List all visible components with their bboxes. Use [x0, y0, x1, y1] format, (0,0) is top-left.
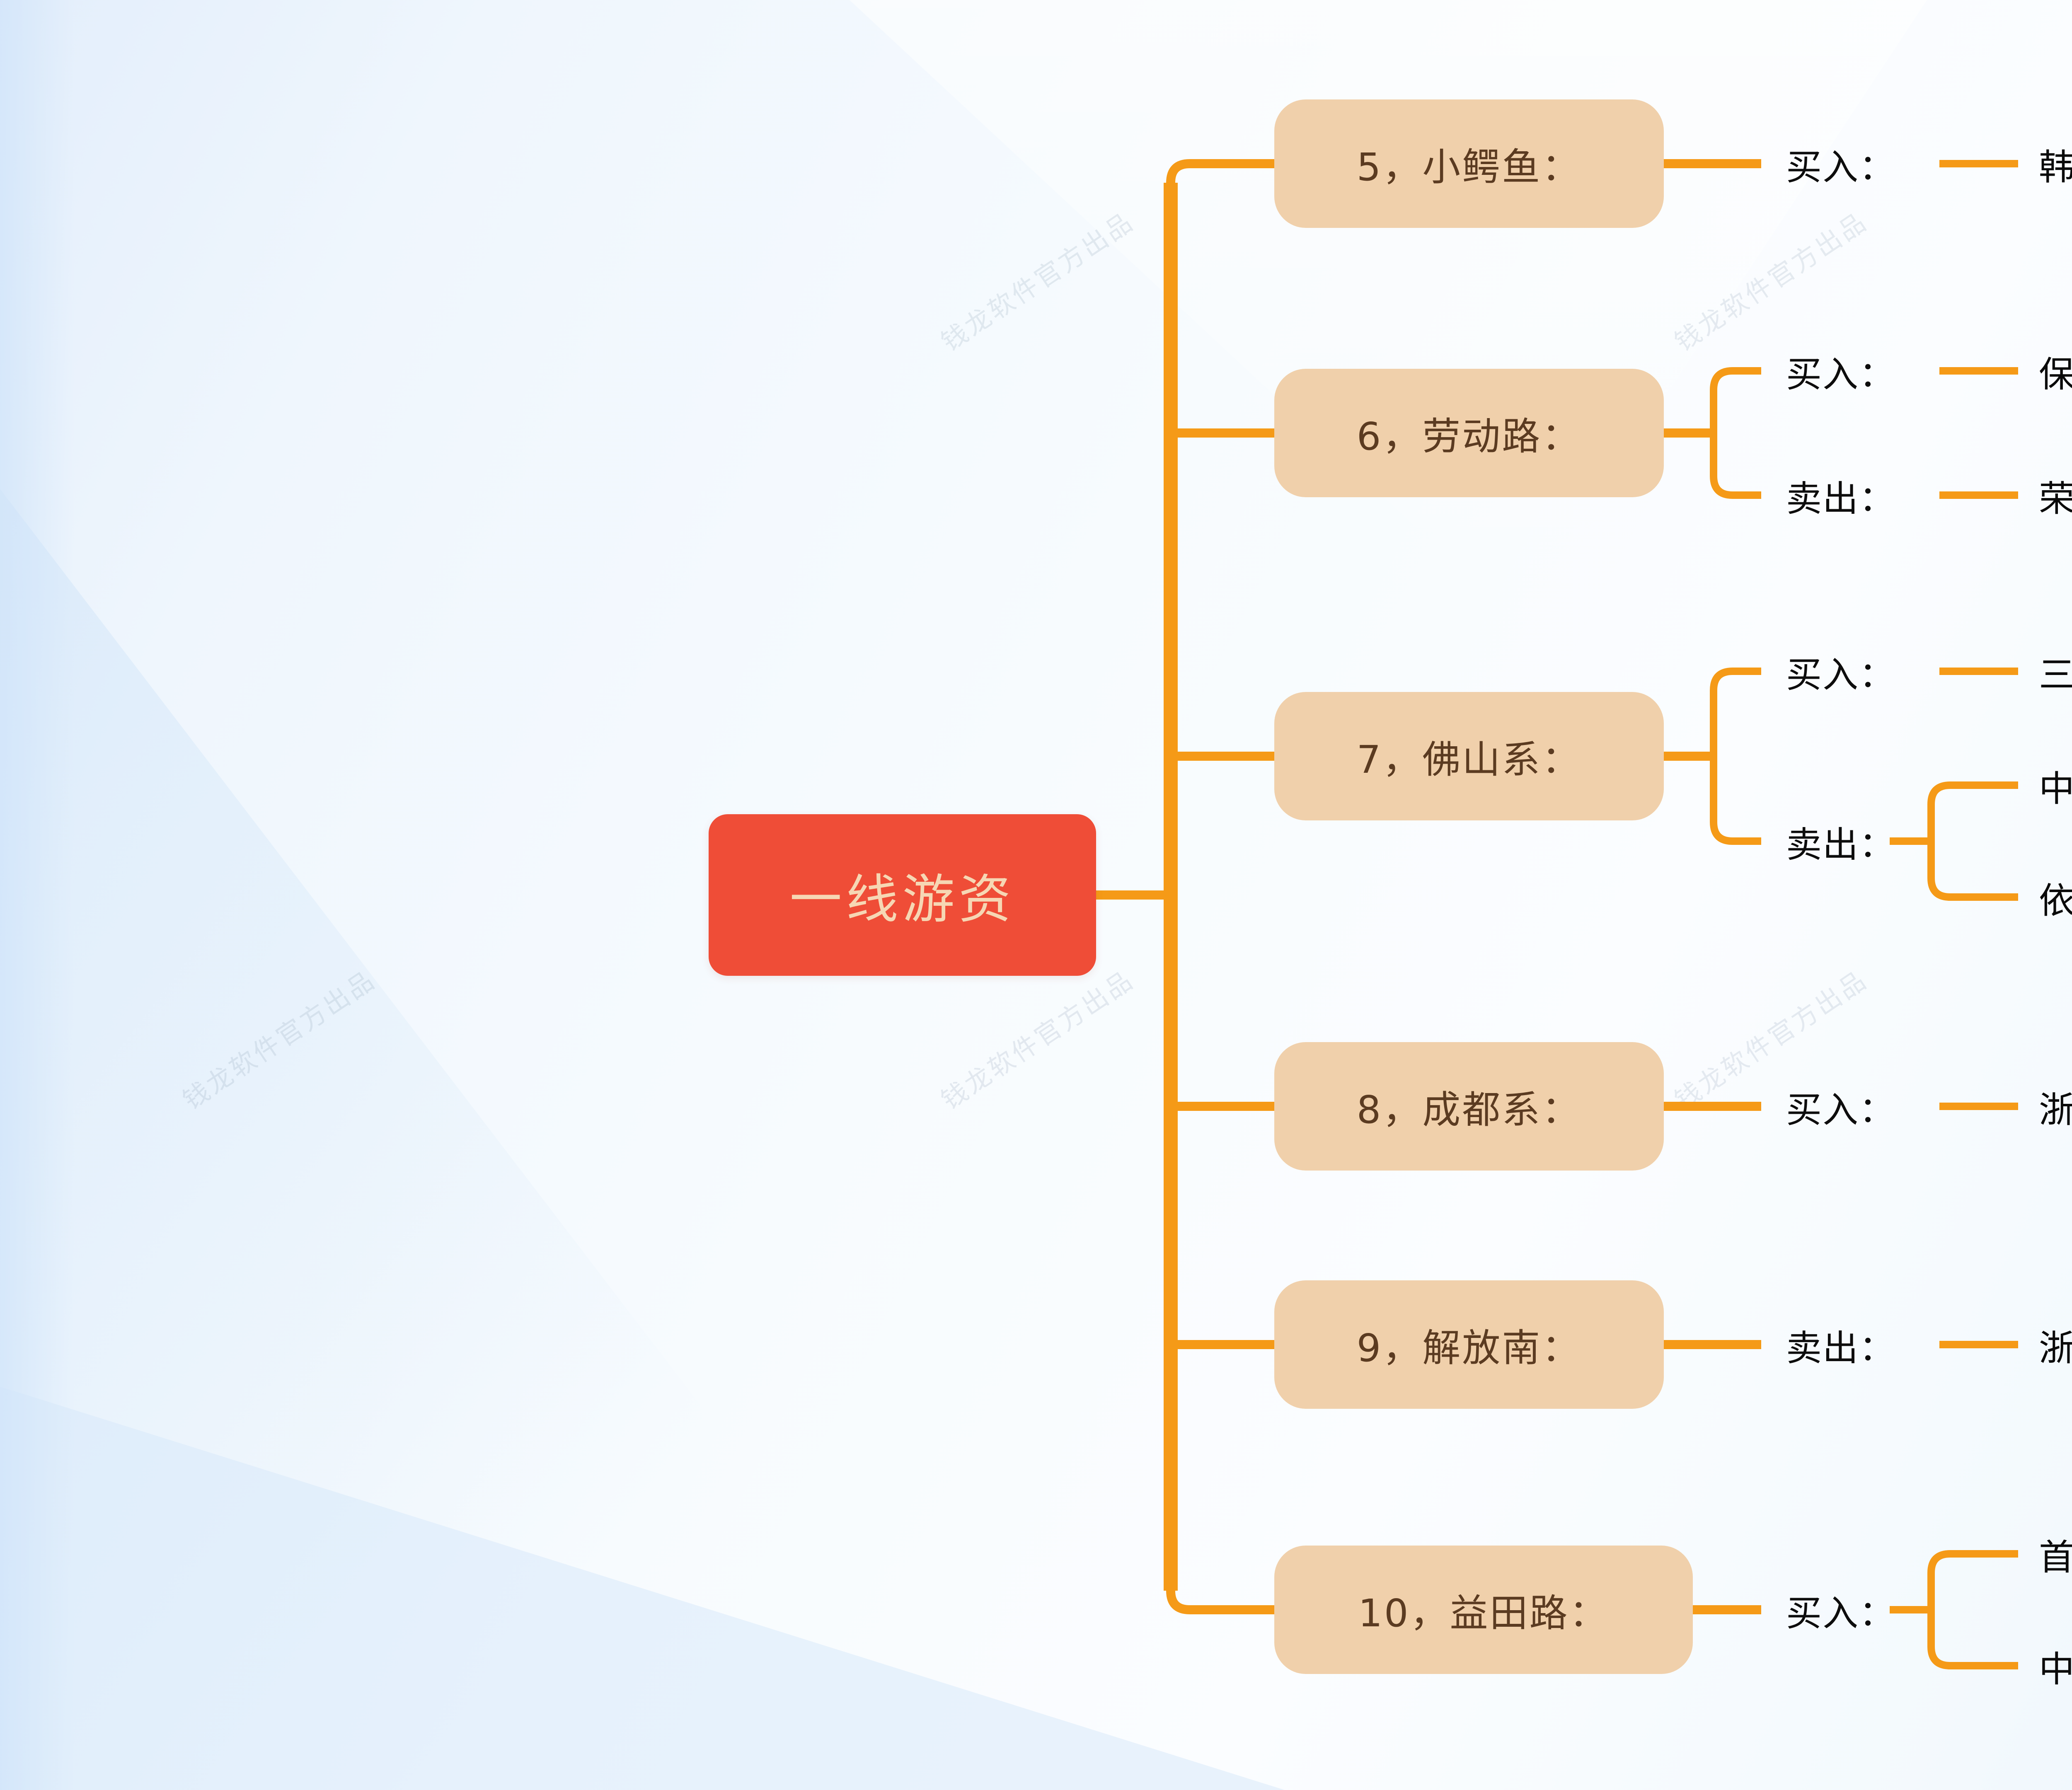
- leaf-1-1-1[interactable]: 韩建河山：5926万: [2039, 141, 2072, 186]
- leaf-6-1-2-text: 中嘉博创3日：1302万: [2039, 1640, 2072, 1692]
- group-label-6-1[interactable]: 买入：: [1786, 1587, 1895, 1633]
- branch-node-label: 5，小鳄鱼：: [1357, 136, 1582, 191]
- branch-node-label: 9，解放南：: [1357, 1317, 1582, 1372]
- branch-node-1[interactable]: 5，小鳄鱼：: [1274, 99, 1664, 228]
- leaf-6-1-2[interactable]: 中嘉博创3日：1302万: [2039, 1643, 2072, 1688]
- leaf-5-1-1[interactable]: 浙大网新：1.68亿: [2039, 1322, 2072, 1367]
- root-node[interactable]: 一线游资: [709, 814, 1096, 976]
- group-label-1-1[interactable]: 买入：: [1786, 141, 1895, 186]
- branch-node-6[interactable]: 10，益田路：: [1274, 1546, 1693, 1674]
- leaf-2-1-1[interactable]: 保利联合：3274万: [2039, 348, 2072, 394]
- group-label-5-1-text: 卖出：: [1786, 1319, 1895, 1371]
- branch-node-4[interactable]: 8，成都系：: [1274, 1042, 1664, 1171]
- leaf-3-1-1[interactable]: 三七互娱：2150万: [2039, 648, 2072, 694]
- group-label-2-1-text: 买入：: [1786, 345, 1895, 397]
- branch-node-label: 8，成都系：: [1357, 1079, 1582, 1134]
- group-label-2-2[interactable]: 卖出：: [1786, 472, 1895, 518]
- group-label-1-1-text: 买入：: [1786, 138, 1895, 190]
- group-label-3-1-text: 买入：: [1786, 646, 1895, 697]
- branch-node-label: 6，劳动路：: [1357, 406, 1582, 461]
- branch-node-2[interactable]: 6，劳动路：: [1274, 369, 1664, 497]
- group-label-5-1[interactable]: 卖出：: [1786, 1322, 1895, 1367]
- group-label-6-1-text: 买入：: [1786, 1584, 1895, 1636]
- leaf-3-2-1-text: 中嘉博创3日：3142万: [2039, 760, 2072, 811]
- leaf-6-1-1[interactable]: 首都在线：2766万: [2039, 1531, 2072, 1577]
- leaf-3-1-1-text: 三七互娱：2150万: [2039, 646, 2072, 697]
- leaf-4-1-1[interactable]: 浙农股份：1356万: [2039, 1084, 2072, 1129]
- group-label-4-1[interactable]: 买入：: [1786, 1084, 1895, 1129]
- branch-node-3[interactable]: 7，佛山系：: [1274, 692, 1664, 820]
- branch-node-5[interactable]: 9，解放南：: [1274, 1280, 1664, 1409]
- group-label-3-2-text: 卖出：: [1786, 815, 1895, 867]
- leaf-4-1-1-text: 浙农股份：1356万: [2039, 1081, 2072, 1132]
- leaf-3-2-2[interactable]: 依米康：8897万: [2039, 874, 2072, 920]
- group-label-3-2[interactable]: 卖出：: [1786, 818, 1895, 864]
- leaf-3-2-1[interactable]: 中嘉博创3日：3142万: [2039, 762, 2072, 808]
- mindmap-canvas: 一线游资 5，小鳄鱼：买入：韩建河山：5926万6，劳动路：买入：保利联合：32…: [0, 0, 2072, 1790]
- leaf-5-1-1-text: 浙大网新：1.68亿: [2039, 1319, 2072, 1371]
- leaf-1-1-1-text: 韩建河山：5926万: [2039, 138, 2072, 190]
- group-label-4-1-text: 买入：: [1786, 1081, 1895, 1132]
- leaf-2-2-1[interactable]: 荣联科技：3145万: [2039, 472, 2072, 518]
- leaf-2-1-1-text: 保利联合：3274万: [2039, 345, 2072, 397]
- group-label-2-1[interactable]: 买入：: [1786, 348, 1895, 394]
- root-node-label: 一线游资: [790, 857, 1015, 933]
- leaf-6-1-1-text: 首都在线：2766万: [2039, 1528, 2072, 1580]
- leaf-3-2-2-text: 依米康：8897万: [2039, 871, 2072, 923]
- leaf-2-2-1-text: 荣联科技：3145万: [2039, 469, 2072, 521]
- group-label-2-2-text: 卖出：: [1786, 469, 1895, 521]
- branch-node-label: 10，益田路：: [1358, 1582, 1609, 1638]
- branch-node-label: 7，佛山系：: [1357, 729, 1582, 784]
- group-label-3-1[interactable]: 买入：: [1786, 648, 1895, 694]
